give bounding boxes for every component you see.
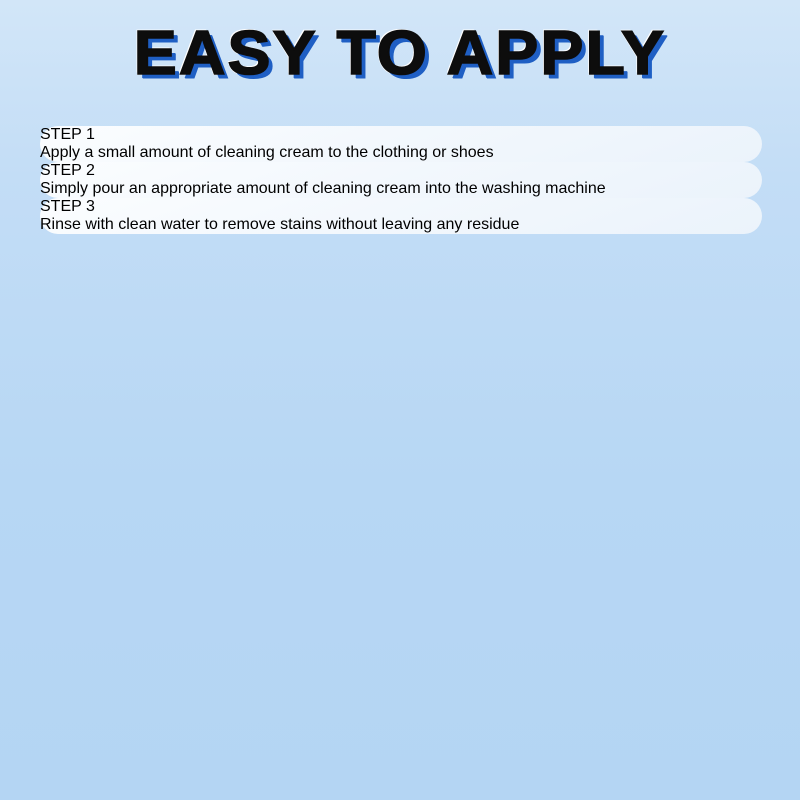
step-card-1: STEP 1 Apply a small amount of cleaning … bbox=[40, 126, 762, 162]
step-2-text: STEP 2 Simply pour an appropriate amount… bbox=[40, 162, 606, 198]
page-title: EASY TO APPLY bbox=[134, 16, 666, 92]
step-3-text: STEP 3 Rinse with clean water to remove … bbox=[40, 198, 519, 234]
step-3-description: Rinse with clean water to remove stains … bbox=[40, 216, 519, 234]
steps-list: STEP 1 Apply a small amount of cleaning … bbox=[40, 126, 762, 234]
promo-page: EASY TO APPLY STEP 1 Apply a small amoun… bbox=[0, 0, 800, 800]
step-3-heading: STEP 3 bbox=[40, 198, 519, 216]
step-card-2: STEP 2 Simply pour an appropriate amount… bbox=[40, 162, 762, 198]
page-title-container: EASY TO APPLY bbox=[0, 16, 800, 92]
step-2-description: Simply pour an appropriate amount of cle… bbox=[40, 180, 606, 198]
step-card-3: STEP 3 Rinse with clean water to remove … bbox=[40, 198, 762, 234]
step-1-heading: STEP 1 bbox=[40, 126, 494, 144]
step-2-heading: STEP 2 bbox=[40, 162, 606, 180]
step-1-text: STEP 1 Apply a small amount of cleaning … bbox=[40, 126, 494, 162]
step-1-description: Apply a small amount of cleaning cream t… bbox=[40, 144, 494, 162]
